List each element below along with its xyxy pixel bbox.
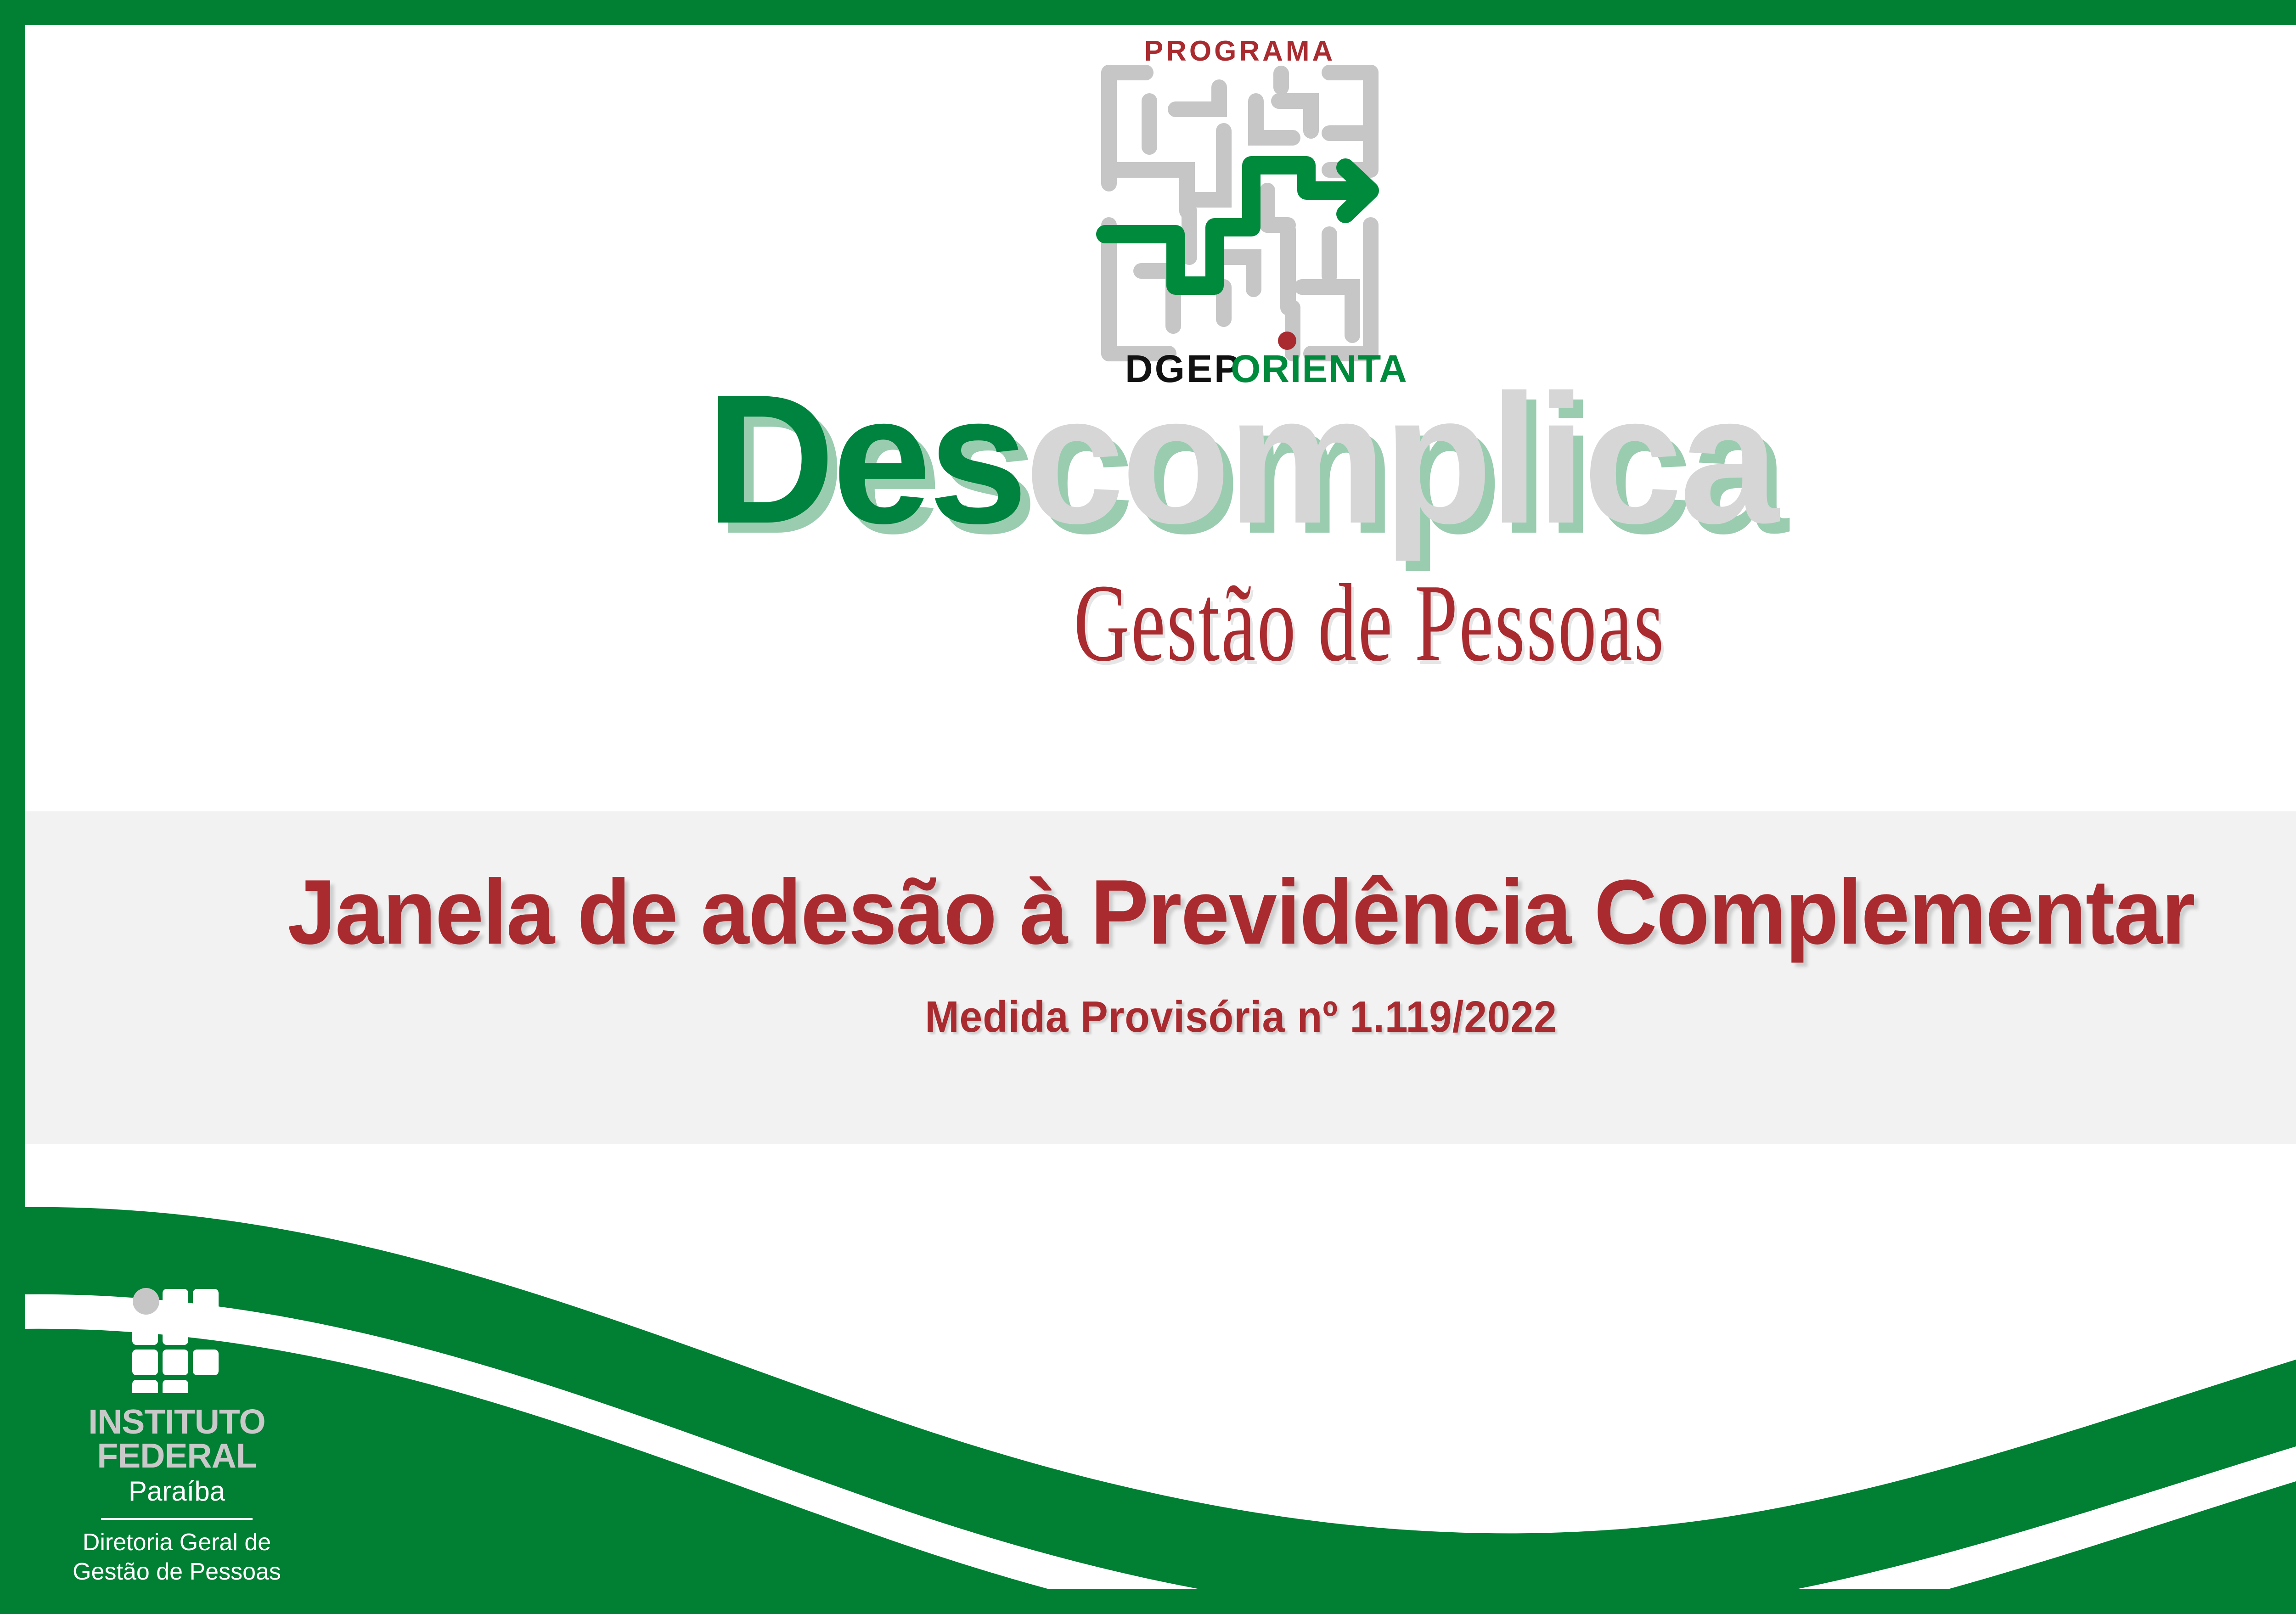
logo-orienta-label: ORIENTA	[1231, 347, 1407, 390]
border-bottom	[0, 1589, 2296, 1614]
ifpb-line-federal: FEDERAL	[69, 1439, 285, 1473]
ifpb-state-label: Paraíba	[69, 1475, 285, 1508]
programa-dgep-orienta-logo: PROGRAMA DGEP ORIENTA	[1072, 32, 1407, 395]
poster-canvas: PROGRAMA DGEP ORIENTA Descomplica Descom…	[0, 0, 2296, 1614]
wave-decoration	[0, 1155, 2296, 1614]
maze-walls-icon	[1109, 73, 1371, 354]
tagline-wrapper: Gestão de Pessoas	[0, 565, 2296, 664]
page-subtitle: Medida Provisória nº 1.119/2022	[110, 995, 2296, 1039]
logo-programa-label: PROGRAMA	[1144, 35, 1336, 67]
ifpb-grid-logo-icon	[131, 1288, 223, 1393]
border-left	[0, 0, 25, 1614]
orienta-accent-dot-icon	[1278, 332, 1296, 350]
page-title: Janela de adesão à Previdência Complemen…	[86, 866, 2296, 958]
ifpb-divider	[101, 1518, 253, 1520]
descomplica-wordmark: Descomplica Descomplica	[0, 367, 2296, 560]
ifpb-department-label: Diretoria Geral de Gestão de Pessoas	[69, 1528, 285, 1586]
tagline-text: Gestão de Pessoas	[1074, 565, 1665, 681]
ifpb-line-instituto: INSTITUTO	[69, 1405, 285, 1439]
wordmark-highlight: Des	[706, 356, 1025, 562]
logo-dgep-label: DGEP	[1125, 347, 1242, 390]
ifpb-mark-circle-icon	[133, 1288, 159, 1315]
border-top	[0, 0, 2296, 25]
ifpb-logo-block: INSTITUTO FEDERAL Paraíba Diretoria Gera…	[69, 1288, 285, 1586]
title-banner: Janela de adesão à Previdência Complemen…	[25, 811, 2296, 1144]
wordmark-shadow: Descomplica	[716, 377, 1786, 561]
